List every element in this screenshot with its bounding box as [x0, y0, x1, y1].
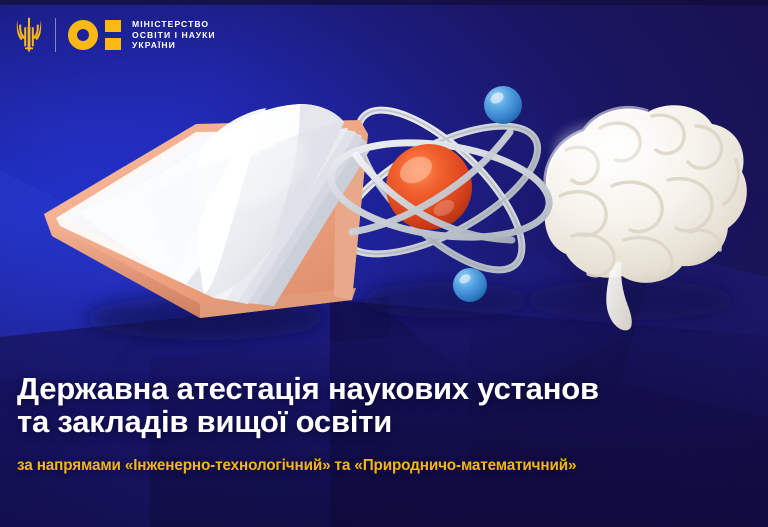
mon-circle-equals-mark — [68, 20, 121, 50]
ministry-logo[interactable]: МІНІСТЕРСТВО ОСВІТИ І НАУКИ УКРАЇНИ — [16, 17, 216, 53]
top-edge-strip — [0, 0, 768, 5]
ministry-name-line-2: ОСВІТИ І НАУКИ — [132, 30, 216, 40]
logo-divider — [55, 18, 56, 52]
banner-subtitle: за напрямами «Інженерно-технологічний» т… — [17, 456, 768, 475]
education-attestation-banner: МІНІСТЕРСТВО ОСВІТИ І НАУКИ УКРАЇНИ — [0, 0, 768, 527]
page-title-line-2: та закладів вищої освіти — [17, 405, 768, 438]
ukraine-trident-icon — [16, 17, 42, 53]
logo-equals-icon — [105, 20, 121, 50]
page-title-line-1: Державна атестація наукових установ — [17, 372, 768, 405]
banner-copy: Державна атестація наукових установ та з… — [0, 372, 768, 475]
logo-circle-icon — [68, 20, 98, 50]
ministry-name-line-1: МІНІСТЕРСТВО — [132, 19, 216, 29]
ministry-name: МІНІСТЕРСТВО ОСВІТИ І НАУКИ УКРАЇНИ — [132, 19, 216, 50]
ministry-name-line-3: УКРАЇНИ — [132, 40, 216, 50]
